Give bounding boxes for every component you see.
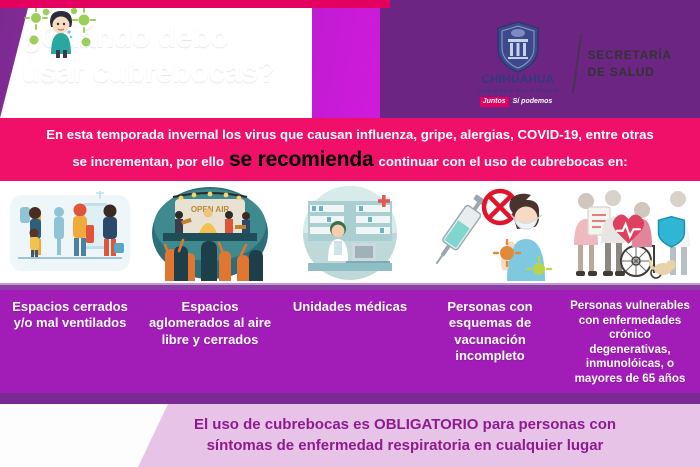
divider-purple [0, 285, 700, 290]
statement-line-1: En esta temporada invernal los virus que… [46, 127, 654, 144]
footer-line-1: El uso de cubrebocas es OBLIGATORIO para… [194, 415, 616, 435]
government-logo-lockup: CHIHUAHUA GOBIERNO DEL ESTADO Juntos Sí … [470, 20, 685, 108]
statement-line-2: se incrementan, por ello se recomienda c… [72, 148, 627, 172]
illustration-cell-1 [0, 181, 140, 285]
title-line-2: usar cubrebocas? [22, 55, 276, 90]
statement-emphasis: se recomienda [229, 148, 373, 172]
logo-slogan: Juntos Sí podemos [480, 97, 557, 107]
logo-slogan-juntos: Juntos [480, 97, 509, 107]
secretariat-line-1: SECRETARÍA [588, 47, 672, 64]
illustration-cell-3 [280, 181, 420, 285]
statement-line-2-suffix: continuar con el uso de cubrebocas en: [379, 154, 628, 171]
logo-government-line: GOBIERNO DEL ESTADO [478, 89, 558, 94]
pharmacy-medical-unit-illustration [294, 185, 406, 281]
sick-person-with-virus-particles-icon [22, 6, 100, 58]
footer-line-1-suffix: para personas con [478, 416, 616, 433]
infographic-poster: ¿Cuándo debo usar cubrebocas? CHIHUAHUA … [0, 0, 700, 467]
illustration-cell-4 [420, 181, 560, 285]
footer-obligatorio: OBLIGATORIO [374, 416, 478, 433]
caption-4: Personas con esquemas de vacunación inco… [420, 290, 560, 393]
illustration-strip: OPEN AIR [0, 181, 700, 285]
footer-line-2: síntomas de enfermedad respiratoria en c… [207, 436, 604, 456]
footer-message: El uso de cubrebocas es OBLIGATORIO para… [120, 404, 690, 467]
open-air-concert-crowd-illustration: OPEN AIR [149, 185, 271, 281]
footer-line-1-prefix: El uso de cubrebocas es [194, 416, 374, 433]
logo-slogan-si-podemos: Sí podemos [509, 97, 557, 107]
statement-line-2-prefix: se incrementan, por ello [72, 154, 224, 171]
top-purple-strip [390, 0, 700, 8]
illustration-cell-2: OPEN AIR [140, 181, 280, 285]
syringe-prohibited-masked-woman-illustration [427, 185, 553, 281]
logo-divider [572, 35, 582, 93]
logo-state-name: CHIHUAHUA [481, 75, 554, 87]
statement-band: En esta temporada invernal los virus que… [0, 118, 700, 181]
vulnerable-elderly-group-illustration [564, 185, 696, 281]
caption-5: Personas vulnerables con enfermedades cr… [560, 290, 700, 393]
caption-2: Espacios aglomerados al aire libre y cer… [140, 290, 280, 393]
secretariat-label: SECRETARÍA DE SALUD [588, 47, 672, 82]
illustration-cell-5 [560, 181, 700, 285]
clothing-store-shoppers-illustration [4, 185, 136, 281]
footer-purple-strip [0, 393, 700, 404]
secretariat-line-2: DE SALUD [588, 64, 672, 81]
chihuahua-logo: CHIHUAHUA GOBIERNO DEL ESTADO Juntos Sí … [470, 21, 566, 106]
chihuahua-state-shield-icon [495, 21, 541, 73]
caption-3: Unidades médicas [280, 290, 420, 393]
caption-band: Espacios cerrados y/o mal ventilados Esp… [0, 290, 700, 393]
caption-1: Espacios cerrados y/o mal ventilados [0, 290, 140, 393]
